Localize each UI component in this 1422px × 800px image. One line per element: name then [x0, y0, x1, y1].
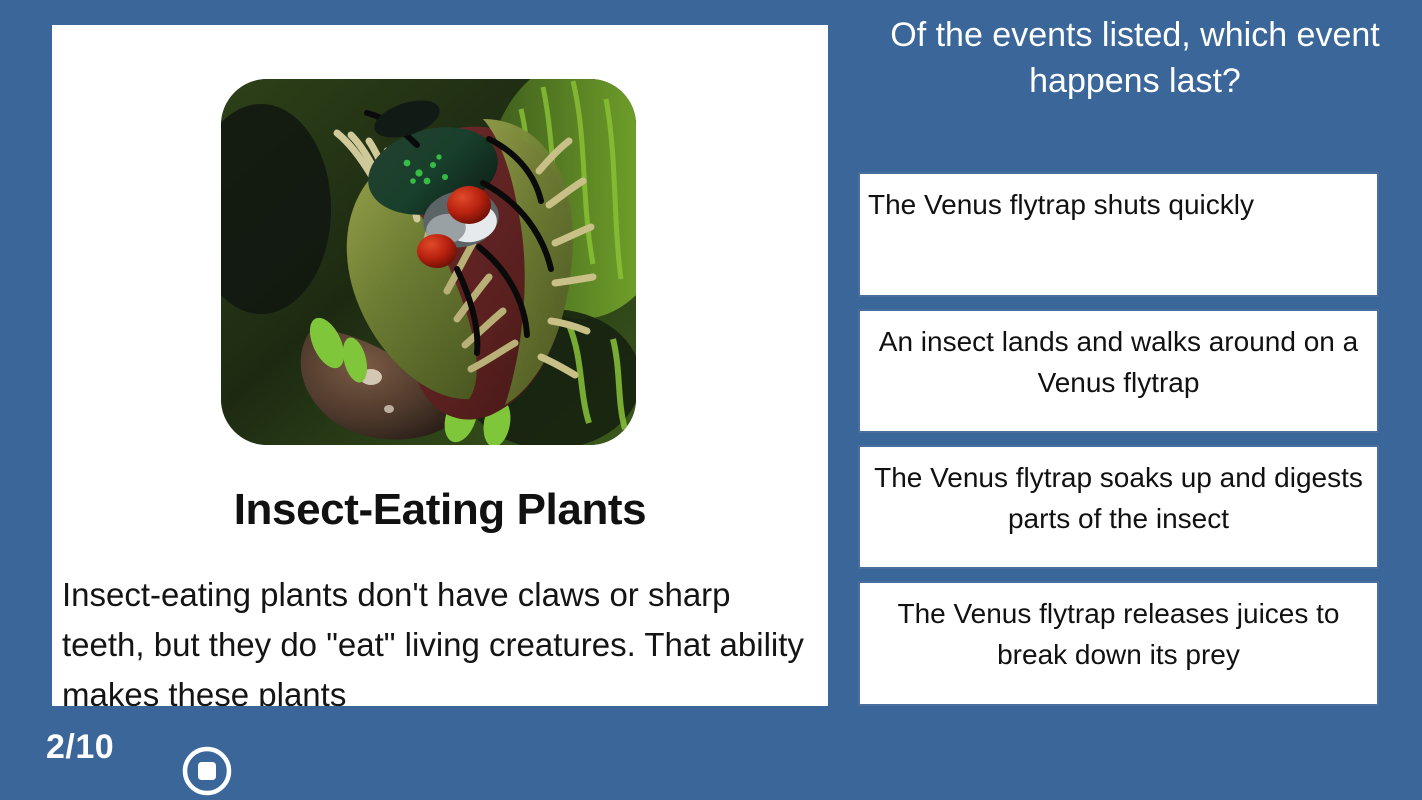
article-body-text: Insect-eating plants don't have claws or…	[62, 570, 818, 706]
question-prompt: Of the events listed, which event happen…	[858, 12, 1412, 104]
page-indicator: 2/10	[46, 728, 114, 767]
reading-card: Insect-Eating Plants Insect-eating plant…	[52, 25, 828, 706]
question-panel: Of the events listed, which event happen…	[848, 0, 1422, 800]
stop-circle-icon[interactable]	[181, 745, 233, 797]
photo-illustration	[221, 79, 636, 445]
answer-option[interactable]: The Venus flytrap shuts quickly	[858, 172, 1379, 297]
bottom-bar: 2/10	[0, 706, 848, 800]
stop-circle-glyph	[181, 745, 233, 797]
answer-option[interactable]: The Venus flytrap soaks up and digests p…	[858, 445, 1379, 569]
article-title: Insect-Eating Plants	[52, 487, 828, 533]
answer-option[interactable]: The Venus flytrap releases juices to bre…	[858, 581, 1379, 706]
venus-flytrap-with-fly-photo	[221, 79, 636, 445]
answer-option[interactable]: An insect lands and walks around on a Ve…	[858, 309, 1379, 433]
